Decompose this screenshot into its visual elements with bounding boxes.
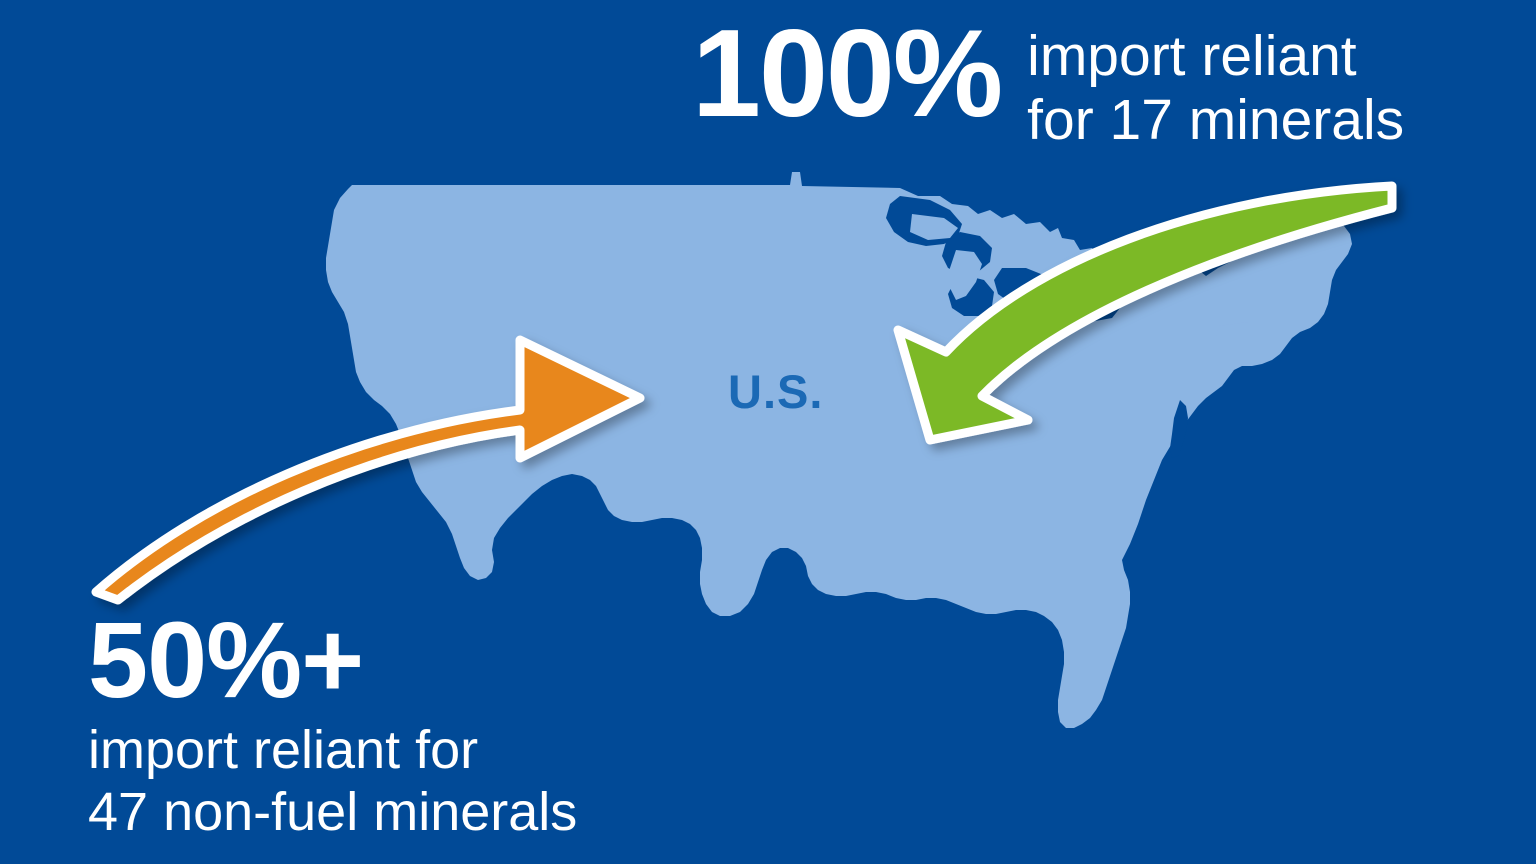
callout-50-percent-plus: 50%+ import reliant for 47 non-fuel mine… <box>88 606 577 843</box>
callout-100-percent: 100% import reliant for 17 minerals <box>692 14 1404 153</box>
callout-top-text: import reliant for 17 minerals <box>1027 24 1404 153</box>
callout-top-line1: import reliant <box>1027 24 1404 88</box>
callout-bottom-stat: 50%+ <box>88 606 577 714</box>
callout-top-line2: for 17 minerals <box>1027 88 1404 152</box>
orange-inbound-arrow <box>96 340 640 600</box>
callout-bottom-line1: import reliant for <box>88 720 577 782</box>
infographic-canvas: U.S. 100% import reliant for 17 minerals… <box>0 0 1536 864</box>
callout-bottom-text: import reliant for 47 non-fuel minerals <box>88 720 577 843</box>
callout-bottom-line2: 47 non-fuel minerals <box>88 782 577 844</box>
green-inbound-arrow <box>898 186 1392 440</box>
callout-top-stat: 100% <box>692 14 1001 136</box>
